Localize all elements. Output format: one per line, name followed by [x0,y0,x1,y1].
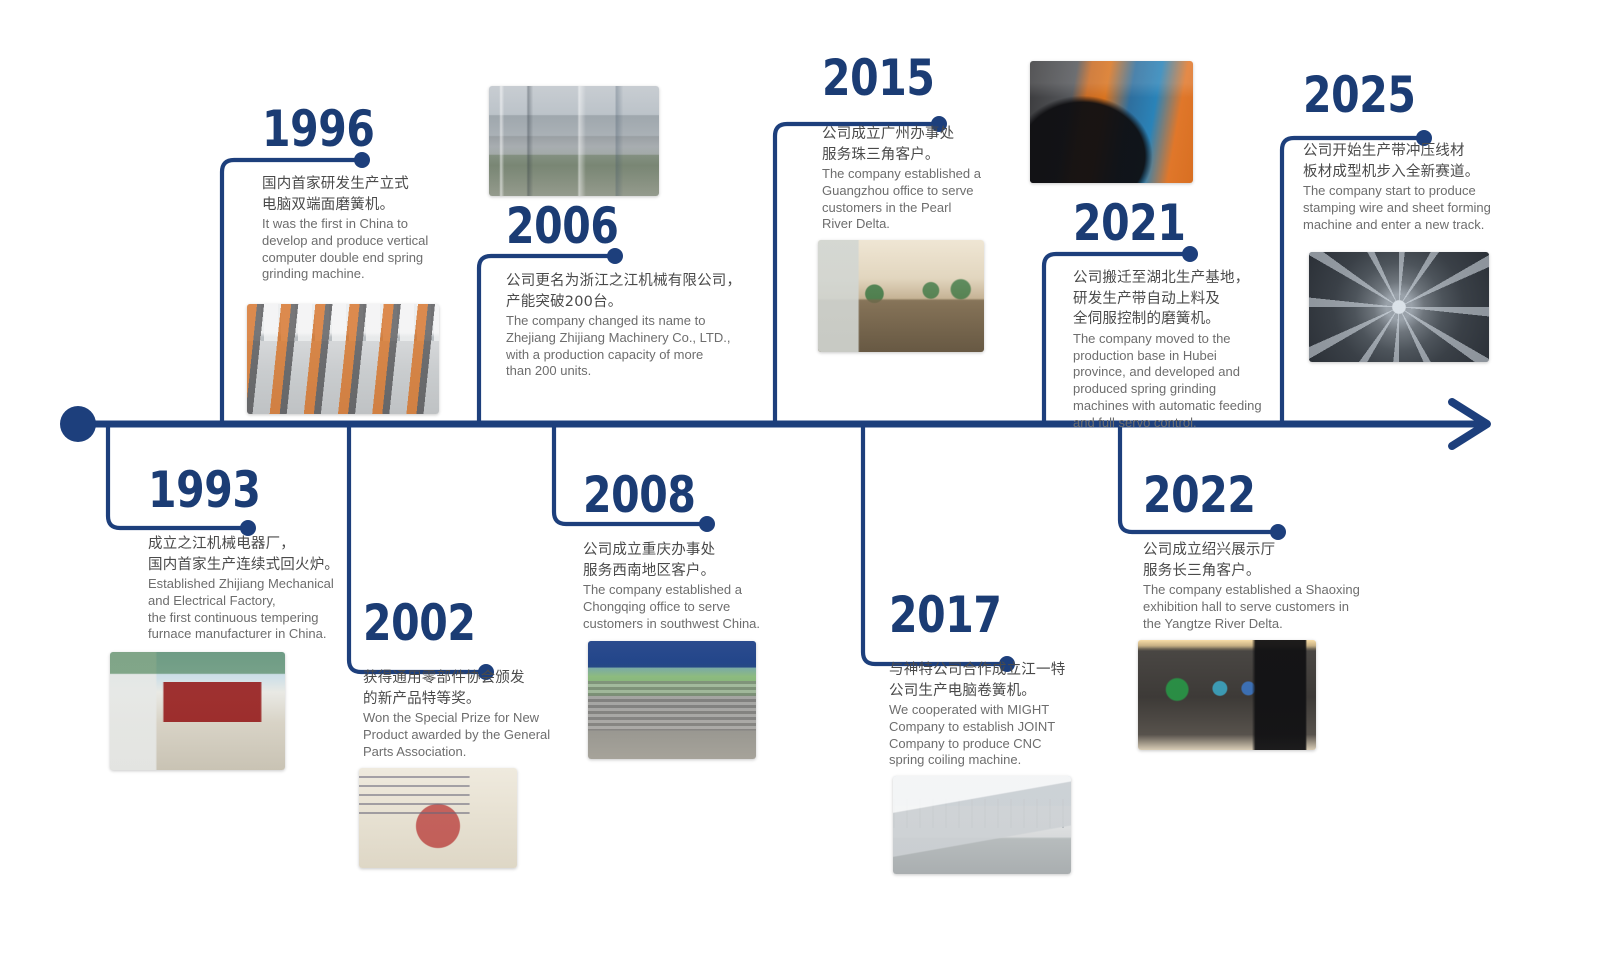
milestone-photo-2022[interactable] [1138,640,1316,750]
milestone-text-cn-2017: 与神特公司合作成立江一特 公司生产电脑卷簧机。 [889,660,1095,701]
factory-gate-red-sign-image [110,652,285,770]
milestone-text-cn-1993: 成立之江机械电器厂， 国内首家生产连续式回火炉。 [148,534,388,575]
milestone-2021[interactable]: 2021 公司搬迁至湖北生产基地， 研发生产带自动上料及 全伺服控制的磨簧机。 … [1073,200,1289,431]
award-certificate-image [359,768,517,868]
workshop-orange-machines-image [247,304,439,414]
milestone-description-2008: 公司成立重庆办事处 服务西南地区客户。 The company establis… [583,540,809,632]
milestone-year-2021: 2021 [1073,200,1250,246]
cnc-rotary-head-image [1309,252,1489,362]
milestone-year-2008: 2008 [583,472,768,518]
milestone-text-en-1996: It was the first in China to develop and… [262,216,462,283]
milestone-text-en-2017: We cooperated with MIGHT Company to esta… [889,702,1095,769]
milestone-photo-2017[interactable] [893,776,1071,874]
milestone-text-cn-2015: 公司成立广州办事处 服务珠三角客户。 [822,124,1022,165]
milestone-text-cn-1996: 国内首家研发生产立式 电脑双端面磨簧机。 [262,174,462,215]
milestone-year-1996: 1996 [262,106,426,152]
timeline-infographic: 1996 国内首家研发生产立式 电脑双端面磨簧机。 It was the fir… [0,0,1600,959]
milestone-photo-2002[interactable] [359,768,517,868]
milestone-2008[interactable]: 2008 公司成立重庆办事处 服务西南地区客户。 The company est… [583,472,809,632]
timeline-arrow-icon [1452,402,1487,446]
milestone-year-2006: 2006 [506,203,708,249]
milestone-2015[interactable]: 2015 公司成立广州办事处 服务珠三角客户。 The company esta… [822,55,1022,233]
milestone-description-2022: 公司成立绍兴展示厅 服务长三角客户。 The company establish… [1143,540,1407,632]
plant-building-white-image [893,776,1071,874]
milestone-description-2025: 公司开始生产带冲压线材 板材成型机步入全新赛道。 The company sta… [1303,141,1515,233]
milestone-2002[interactable]: 2002 获得通用零部件协会颁发 的新产品特等奖。 Won the Specia… [363,600,585,760]
milestone-text-cn-2008: 公司成立重庆办事处 服务西南地区客户。 [583,540,809,581]
milestone-description-2006: 公司更名为浙江之江机械有限公司， 产能突破200台。 The company c… [506,271,752,380]
milestone-text-en-1993: Established Zhijiang Mechanical and Elec… [148,576,388,643]
machine-head-orange-blue-image [1030,61,1193,183]
milestone-description-1993: 成立之江机械电器厂， 国内首家生产连续式回火炉。 Established Zhi… [148,534,388,643]
milestone-year-2017: 2017 [889,592,1058,638]
milestone-text-en-2006: The company changed its name to Zhejiang… [506,313,752,380]
timeline-start-dot [60,406,96,442]
milestone-photo-1996[interactable] [247,304,439,414]
milestone-2022[interactable]: 2022 公司成立绍兴展示厅 服务长三角客户。 The company esta… [1143,472,1407,632]
milestone-photo-2008[interactable] [588,641,756,759]
milestone-2006[interactable]: 2006 公司更名为浙江之江机械有限公司， 产能突破200台。 The comp… [506,203,752,380]
milestone-text-en-2015: The company established a Guangzhou offi… [822,166,1022,233]
milestone-1996[interactable]: 1996 国内首家研发生产立式 电脑双端面磨簧机。 It was the fir… [262,106,462,283]
milestone-2017[interactable]: 2017 与神特公司合作成立江一特 公司生产电脑卷簧机。 We cooperat… [889,592,1095,769]
chongqing-office-shopfront-image [588,641,756,759]
guangzhou-office-interior-image [818,240,984,352]
milestone-text-en-2021: The company moved to the production base… [1073,331,1289,432]
milestone-photo-2006[interactable] [489,86,659,196]
milestone-year-2002: 2002 [363,600,545,646]
milestone-description-2015: 公司成立广州办事处 服务珠三角客户。 The company establish… [822,124,1022,233]
milestone-text-en-2022: The company established a Shaoxing exhib… [1143,582,1407,632]
milestone-description-2017: 与神特公司合作成立江一特 公司生产电脑卷簧机。 We cooperated wi… [889,660,1095,769]
milestone-photo-2021[interactable] [1030,61,1193,183]
milestone-year-2025: 2025 [1303,72,1477,118]
milestone-description-1996: 国内首家研发生产立式 电脑双端面磨簧机。 It was the first in… [262,174,462,283]
milestone-1993[interactable]: 1993 成立之江机械电器厂， 国内首家生产连续式回火炉。 Establishe… [148,467,388,643]
milestone-text-en-2008: The company established a Chongqing offi… [583,582,809,632]
milestone-text-cn-2002: 获得通用零部件协会颁发 的新产品特等奖。 [363,668,585,709]
milestone-text-cn-2025: 公司开始生产带冲压线材 板材成型机步入全新赛道。 [1303,141,1515,182]
milestone-text-en-2002: Won the Special Prize for New Product aw… [363,710,585,760]
milestone-text-cn-2021: 公司搬迁至湖北生产基地， 研发生产带自动上料及 全伺服控制的磨簧机。 [1073,268,1289,330]
milestone-text-cn-2022: 公司成立绍兴展示厅 服务长三角客户。 [1143,540,1407,581]
milestone-year-1993: 1993 [148,467,345,513]
milestone-photo-2025[interactable] [1309,252,1489,362]
milestone-year-2022: 2022 [1143,472,1359,518]
milestone-year-2015: 2015 [822,55,986,101]
milestone-description-2002: 获得通用零部件协会颁发 的新产品特等奖。 Won the Special Pri… [363,668,585,760]
milestone-text-cn-2006: 公司更名为浙江之江机械有限公司， 产能突破200台。 [506,271,752,312]
milestone-2025[interactable]: 2025 公司开始生产带冲压线材 板材成型机步入全新赛道。 The compan… [1303,72,1515,233]
shaoxing-showroom-image [1138,640,1316,750]
milestone-photo-1993[interactable] [110,652,285,770]
factory-aerial-view-image [489,86,659,196]
milestone-photo-2015[interactable] [818,240,984,352]
milestone-text-en-2025: The company start to produce stamping wi… [1303,183,1515,233]
milestone-description-2021: 公司搬迁至湖北生产基地， 研发生产带自动上料及 全伺服控制的磨簧机。 The c… [1073,268,1289,431]
